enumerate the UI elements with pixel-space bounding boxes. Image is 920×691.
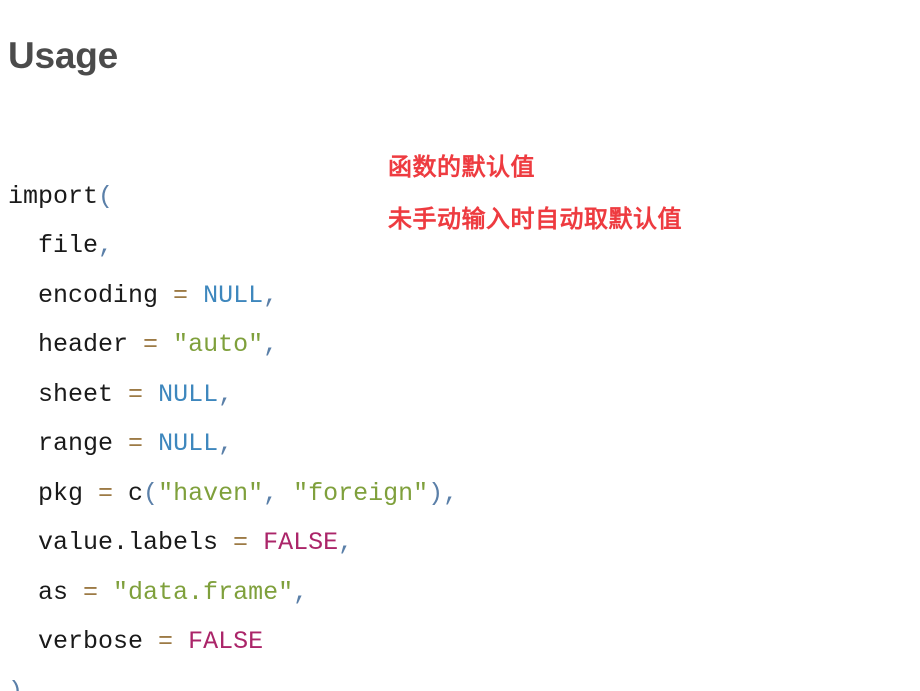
code-content: import( file, encoding = NULL, header = … [8,182,458,691]
code-token-paren: ) [8,677,23,691]
code-token-op: = [98,479,113,508]
code-token-plain [248,528,263,557]
code-token-string: ″foreign″ [293,479,428,508]
code-line: import( [8,182,113,211]
code-token-plain: import [8,182,98,211]
code-token-op: = [143,330,158,359]
code-token-plain: header [8,330,143,359]
code-line: file, [8,231,113,260]
code-token-comma: , [263,479,293,508]
code-token-plain: range [8,429,128,458]
code-token-plain: value.labels [8,528,233,557]
code-token-plain [158,330,173,359]
code-token-paren: ( [98,182,113,211]
code-line: value.labels = FALSE, [8,528,353,557]
code-token-comma: , [98,231,113,260]
code-token-comma: , [293,578,308,607]
code-token-string: ″haven″ [158,479,263,508]
code-token-const: NULL [158,429,218,458]
code-token-plain: as [8,578,83,607]
code-token-comma: , [218,380,233,409]
code-token-plain [188,281,203,310]
code-token-plain: sheet [8,380,128,409]
code-line: as = ″data.frame″, [8,578,308,607]
code-line: range = NULL, [8,429,233,458]
code-token-comma: , [263,281,278,310]
code-token-comma: , [218,429,233,458]
annotation-auto-default: 未手动输入时自动取默认值 [388,207,682,231]
code-token-const: NULL [158,380,218,409]
code-token-comma: , [443,479,458,508]
code-token-plain: encoding [8,281,173,310]
code-line: pkg = c(″haven″, ″foreign″), [8,479,458,508]
code-line: sheet = NULL, [8,380,233,409]
code-line: header = ″auto″, [8,330,278,359]
code-token-plain [143,380,158,409]
code-line: ) [8,677,23,691]
code-token-paren: ( [143,479,158,508]
code-token-plain [143,429,158,458]
annotation-default-value: 函数的默认值 [388,155,535,179]
code-token-logical: FALSE [263,528,338,557]
code-token-op: = [128,380,143,409]
code-token-op: = [128,429,143,458]
page-title: Usage [8,37,118,74]
code-token-plain: file [8,231,98,260]
code-line: encoding = NULL, [8,281,278,310]
code-token-op: = [83,578,98,607]
code-token-paren: ) [428,479,443,508]
code-token-plain [98,578,113,607]
code-token-const: NULL [203,281,263,310]
code-token-comma: , [338,528,353,557]
code-token-plain: c [113,479,143,508]
code-token-op: = [233,528,248,557]
code-token-op: = [173,281,188,310]
code-token-plain: pkg [8,479,98,508]
code-token-comma: , [263,330,278,359]
code-token-string: ″auto″ [173,330,263,359]
code-token-string: ″data.frame″ [113,578,293,607]
